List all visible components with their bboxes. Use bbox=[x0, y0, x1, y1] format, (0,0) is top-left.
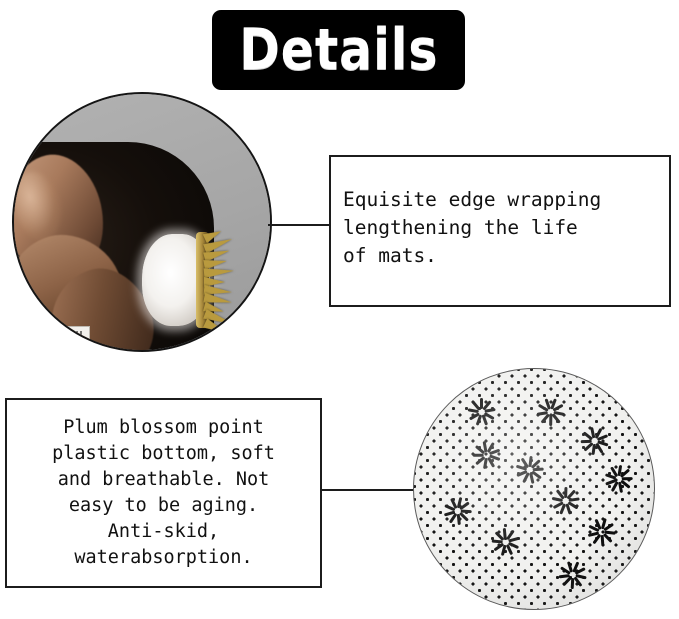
photo-content bbox=[14, 94, 270, 350]
mat-shading-overlay bbox=[414, 369, 654, 609]
page-title: Details bbox=[239, 22, 438, 79]
product-edge-photo bbox=[12, 92, 272, 352]
callout-edge-wrapping-text: Equisite edge wrapping lengthening the l… bbox=[331, 186, 669, 276]
callout-plastic-bottom: Plum blossom point plastic bottom, soft … bbox=[5, 398, 322, 588]
connector-photo-to-callout bbox=[268, 224, 331, 226]
callout-edge-wrapping: Equisite edge wrapping lengthening the l… bbox=[329, 155, 671, 307]
connector-callout-to-mat bbox=[320, 489, 418, 491]
detail-page-canvas: Details Equisite edge wrapping lengtheni… bbox=[0, 0, 679, 619]
model-figure bbox=[12, 149, 160, 352]
photo-watermark-tag bbox=[60, 326, 90, 341]
mat-bottom-texture bbox=[413, 368, 655, 610]
callout-plastic-bottom-text: Plum blossom point plastic bottom, soft … bbox=[7, 415, 320, 571]
gold-crown-edge bbox=[196, 226, 240, 334]
details-title-banner: Details bbox=[212, 10, 465, 90]
